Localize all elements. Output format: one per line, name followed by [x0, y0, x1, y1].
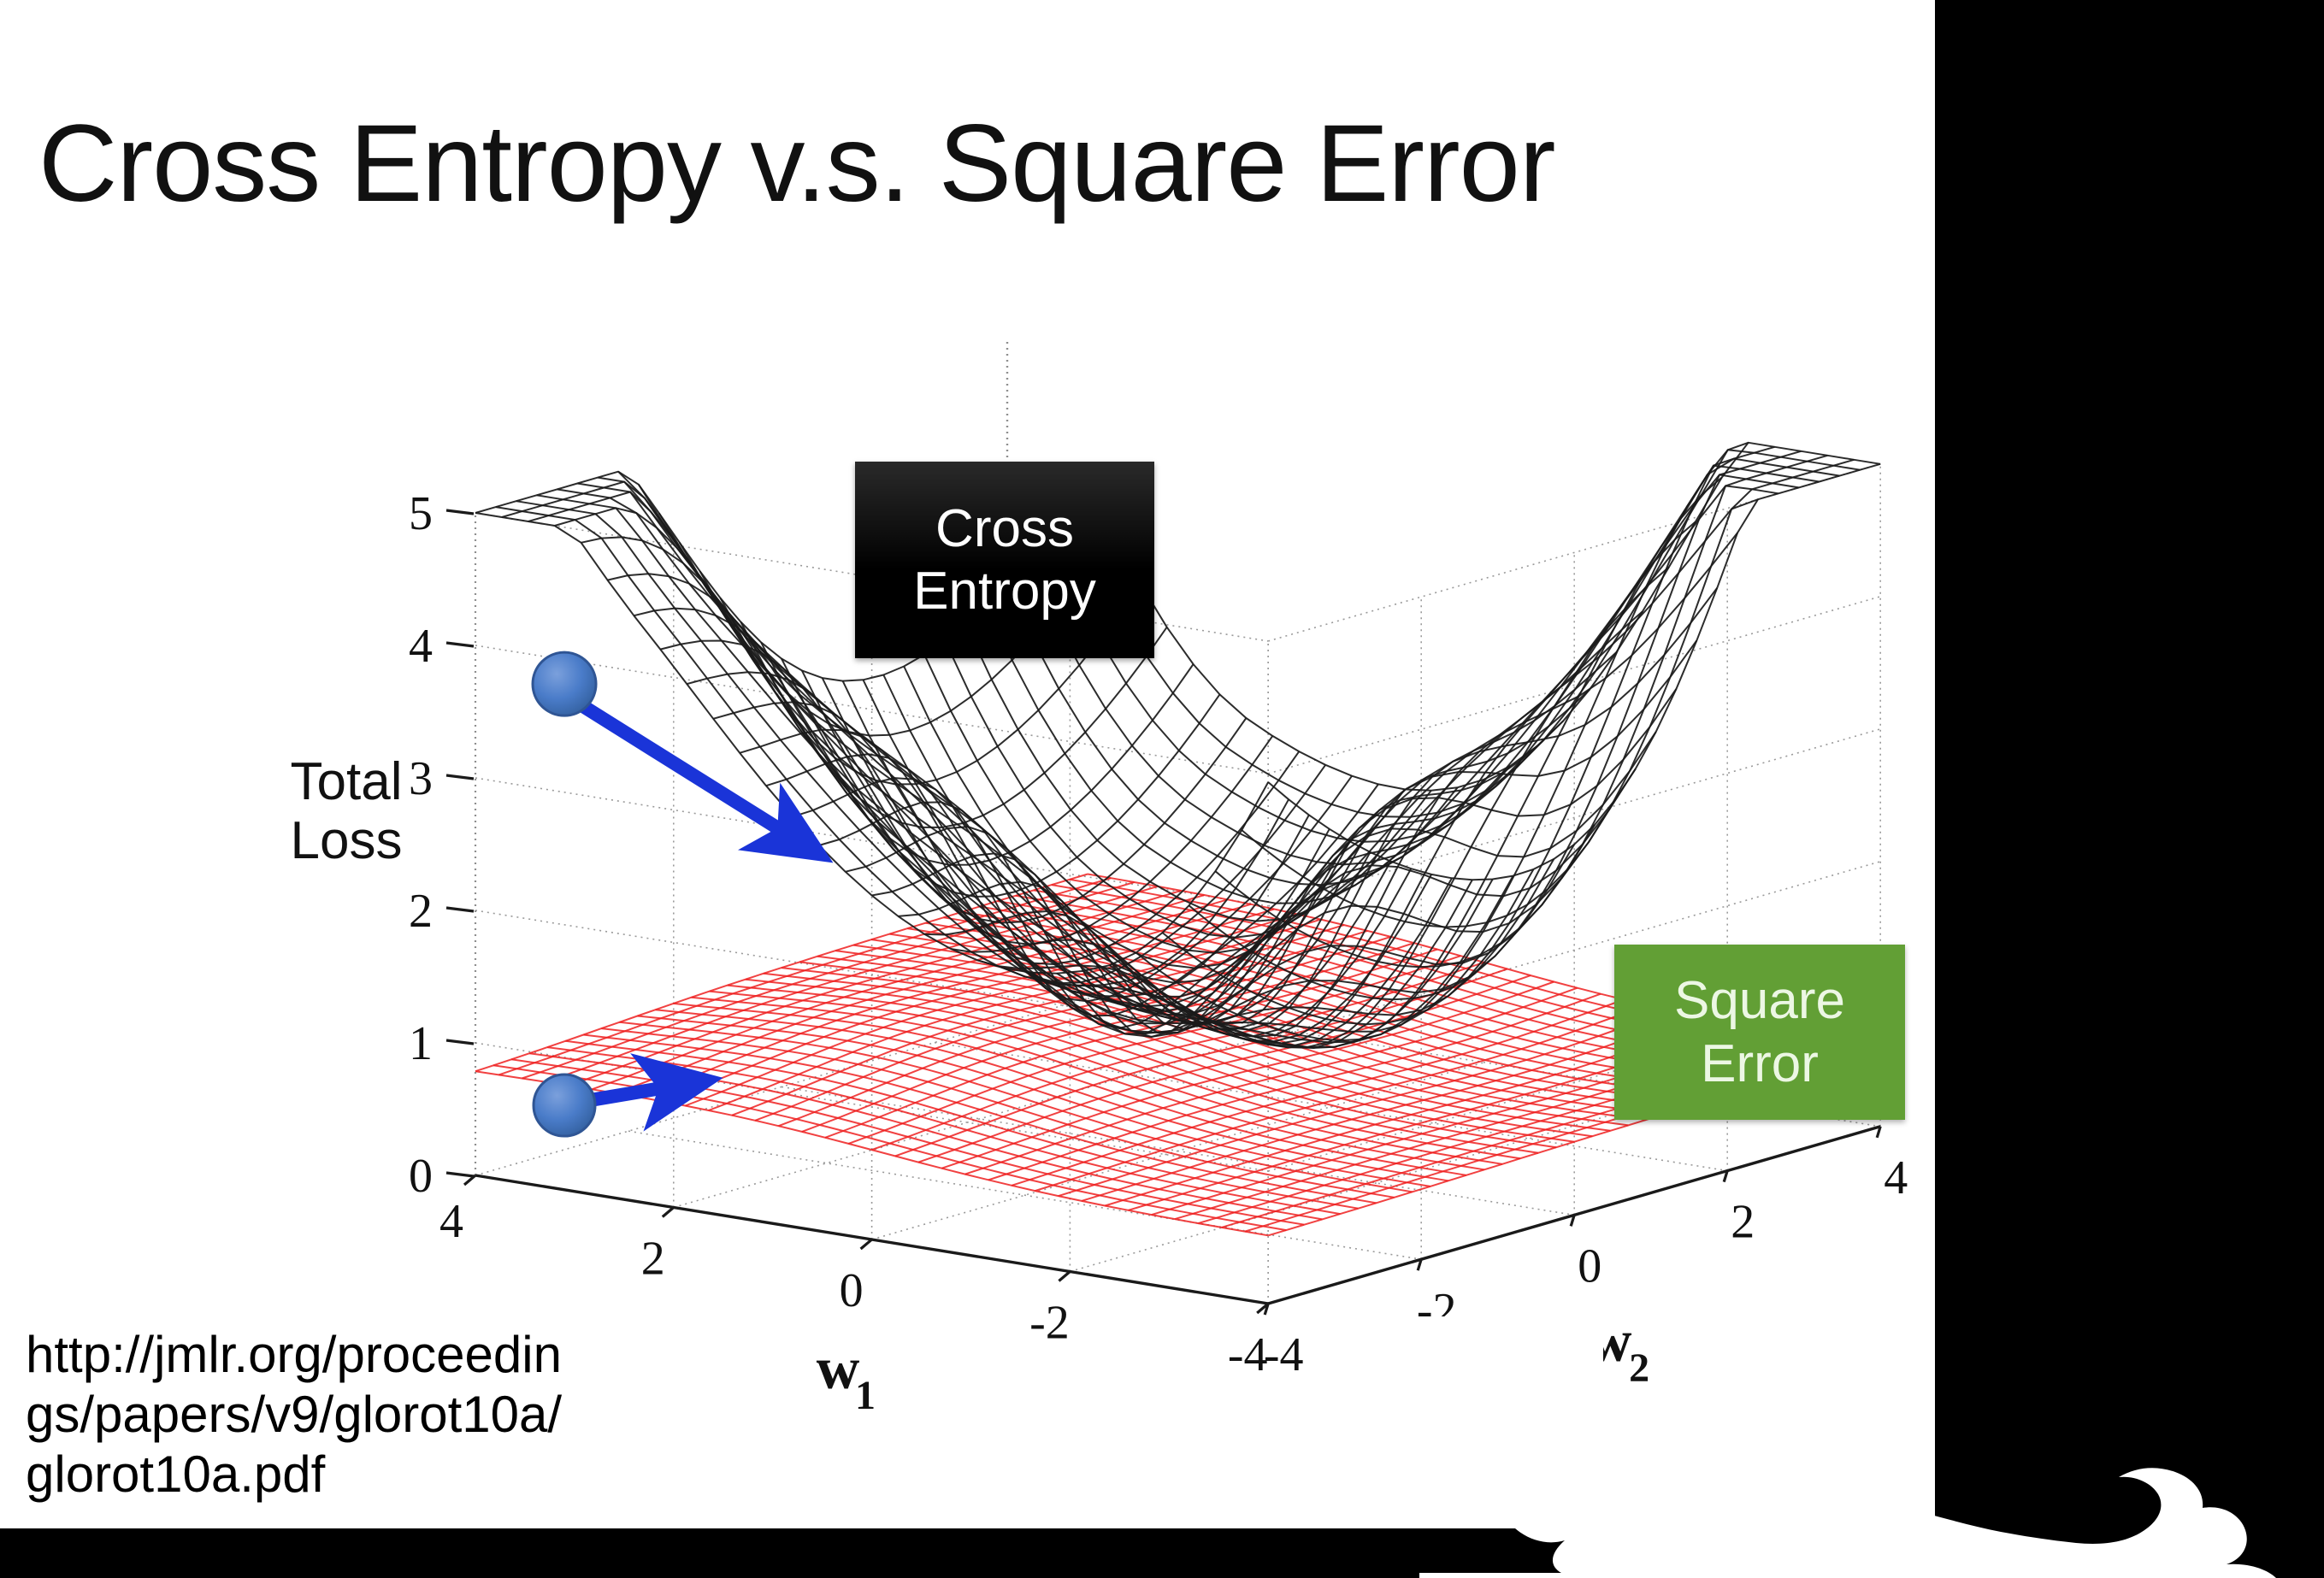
square-error-gradient-marker: [534, 1075, 595, 1136]
source-url: http://jmlr.org/proceedings/papers/v9/gl…: [26, 1325, 573, 1505]
callout-cross-entropy: Cross Entropy: [855, 462, 1154, 658]
w1-axis-sublabel: 1: [855, 1373, 876, 1418]
w2-axis-label: w: [1589, 1309, 1632, 1375]
cross-entropy-gradient-marker: [533, 652, 596, 715]
callout-cross-entropy-line1: Cross: [935, 498, 1074, 560]
w2-tick--4: -4: [1264, 1328, 1304, 1381]
page-title: Cross Entropy v.s. Square Error: [38, 101, 1554, 227]
w2-tick-0: 0: [1578, 1239, 1601, 1292]
right-black-band: [1935, 0, 2324, 1578]
w1-tick-4: 4: [439, 1195, 463, 1248]
z-axis-title-line2: Loss: [248, 811, 445, 870]
z-tick-0: 0: [409, 1150, 433, 1203]
z-axis-title: Total Loss: [248, 752, 445, 871]
w1-axis-label: w: [817, 1336, 860, 1402]
z-tick-1: 1: [409, 1017, 433, 1070]
z-axis-title-line1: Total: [248, 752, 445, 811]
w1-tick-2: 2: [641, 1233, 665, 1286]
callout-square-error: Square Error: [1614, 945, 1905, 1120]
bottom-black-bar: [0, 1528, 2324, 1578]
w2-tick-2: 2: [1731, 1196, 1755, 1249]
z-tick-5: 5: [409, 487, 433, 540]
callout-cross-entropy-line2: Entropy: [913, 560, 1096, 622]
w2-tick--2: -2: [1417, 1284, 1457, 1337]
w2-axis-sublabel: 2: [1629, 1345, 1649, 1391]
w1-tick--2: -2: [1029, 1297, 1070, 1350]
z-tick-4: 4: [409, 620, 433, 673]
w2-tick-4: 4: [1884, 1151, 1908, 1204]
cross-entropy-gradient-arrow: [569, 698, 795, 839]
axis-grid-walls: [475, 342, 1880, 1304]
w1-tick-0: 0: [840, 1264, 864, 1317]
w1-tick--4: -4: [1228, 1328, 1268, 1381]
callout-square-error-line1: Square: [1674, 969, 1845, 1032]
z-tick-2: 2: [409, 885, 433, 938]
callout-square-error-line2: Error: [1701, 1033, 1819, 1095]
slide-canvas: 012345420-2-4-4-2024w1w2 Cross Entropy v…: [0, 0, 2324, 1578]
